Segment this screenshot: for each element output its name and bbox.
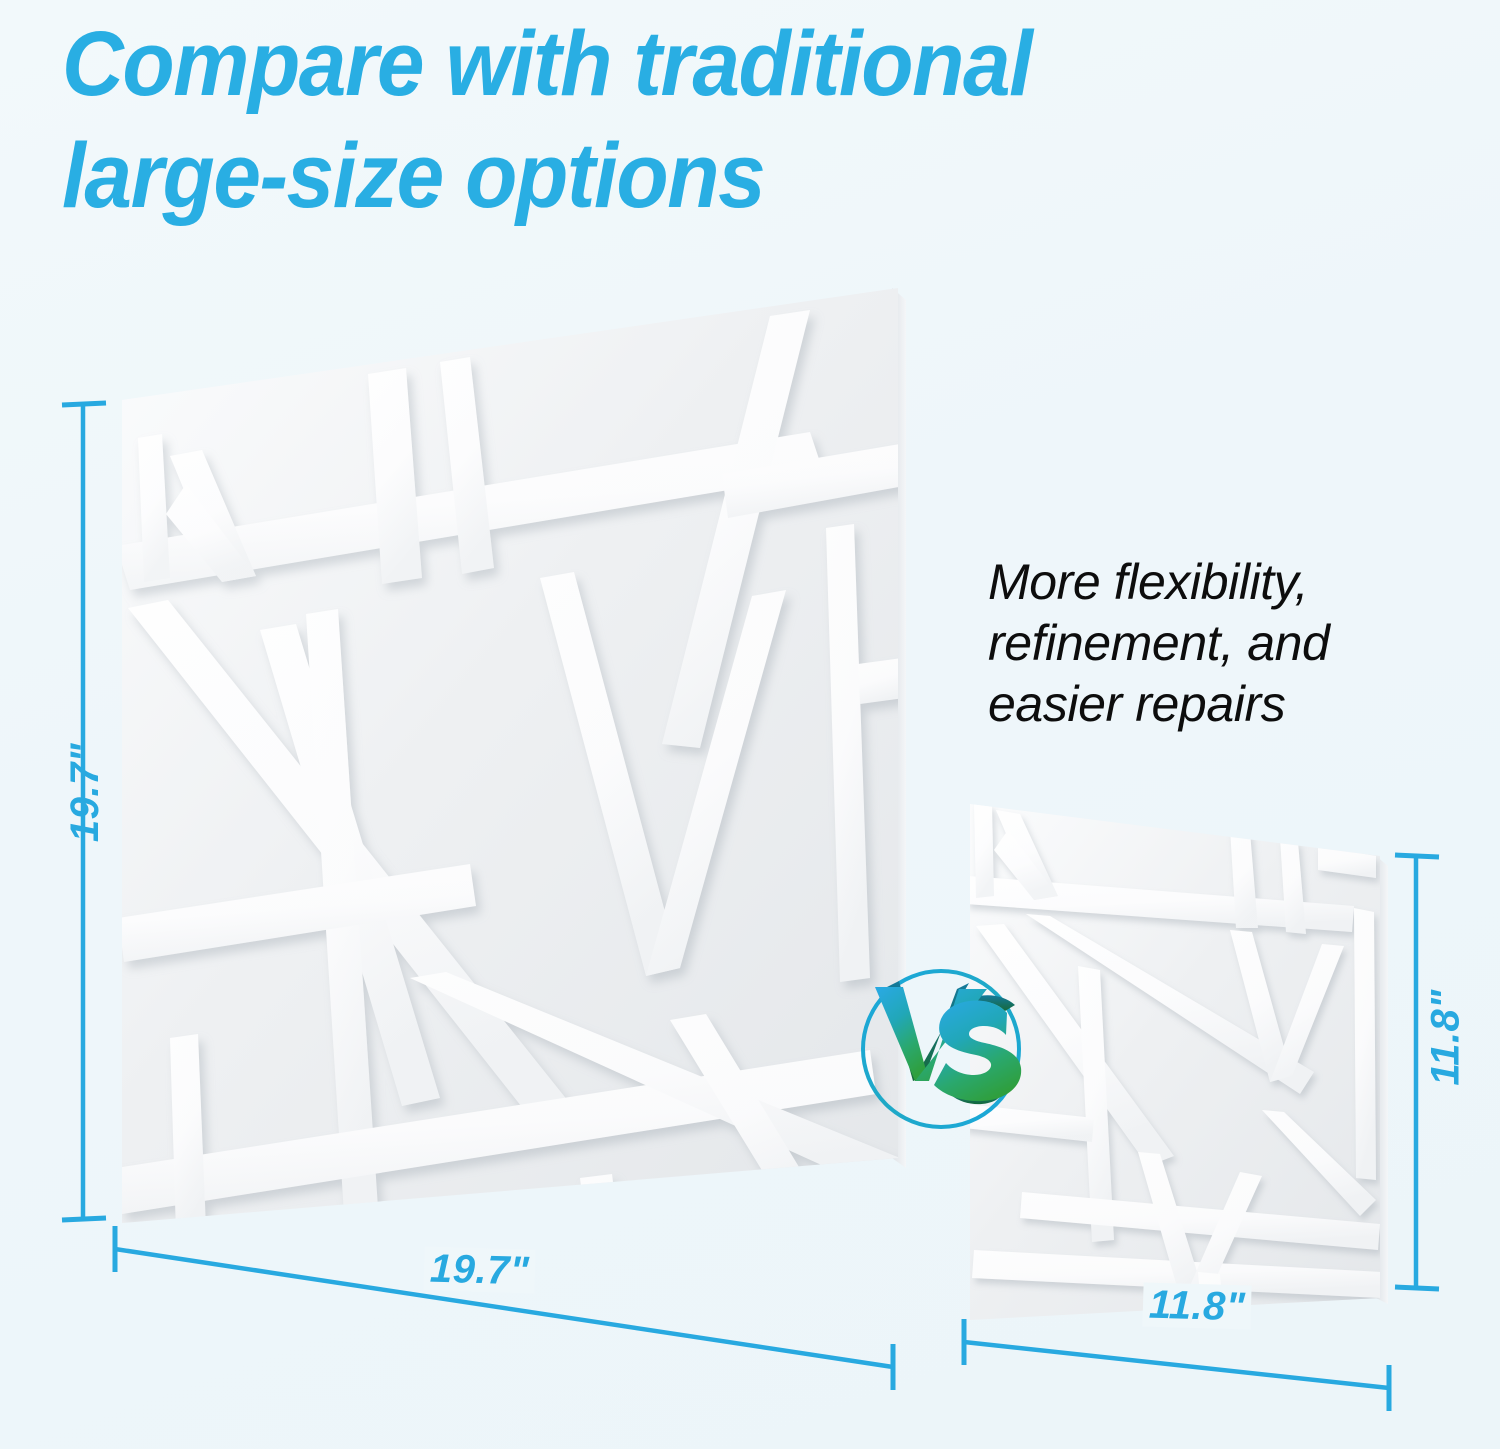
infographic-canvas: Compare with traditional large-size opti… [0, 0, 1500, 1449]
dim-label-small-height: 11.8" [1424, 989, 1469, 1085]
dim-cap-large-height-top [62, 403, 106, 405]
dim-label-small-width: 11.8" [1142, 1282, 1252, 1330]
vs-badge-graphic [855, 963, 1027, 1135]
dim-label-small-width-text: 11.8" [1142, 1282, 1252, 1329]
dim-label-large-width-text: 19.7" [423, 1246, 536, 1293]
vs-badge [855, 963, 1027, 1135]
dim-line-small-width [964, 1342, 1389, 1388]
dim-label-large-height: 19.7" [63, 743, 108, 842]
dim-cap-small-height-top [1395, 855, 1439, 857]
dim-label-large-width: 19.7" [423, 1246, 536, 1294]
dim-cap-small-height-bottom [1395, 1287, 1439, 1289]
vs-letter-s [934, 1000, 1021, 1101]
vs-letter-v [875, 987, 929, 1081]
benefit-caption: More flexibility, refinement, and easier… [988, 552, 1418, 735]
dim-cap-large-height-bottom [62, 1218, 106, 1220]
